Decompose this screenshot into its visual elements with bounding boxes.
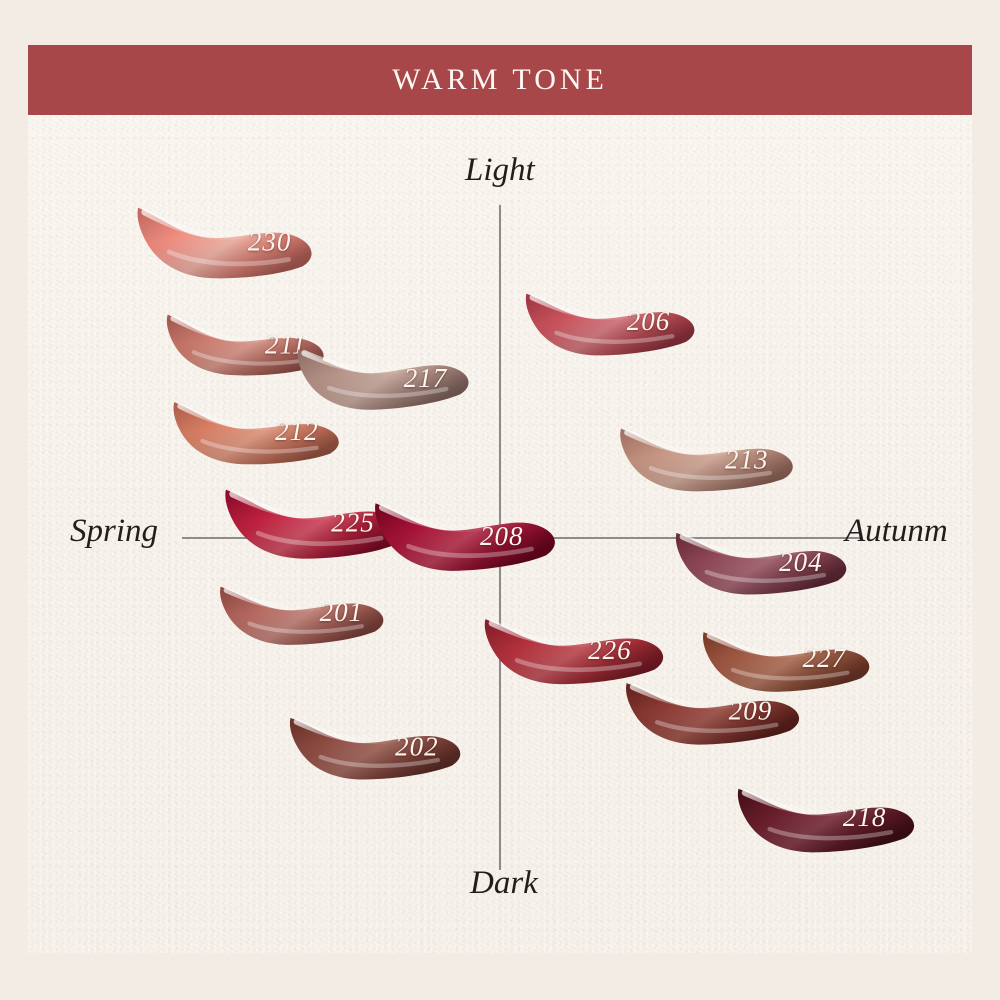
warm-tone-shade-chart: WARM TONE Light Dark Spring Autunm 23021… <box>0 0 1000 1000</box>
title-bar: WARM TONE <box>28 45 972 115</box>
axis-label-dark: Dark <box>470 865 538 902</box>
axis-label-spring: Spring <box>70 513 158 550</box>
axis-label-light: Light <box>465 152 535 189</box>
page-title: WARM TONE <box>392 63 608 97</box>
axis-label-autumn: Autunm <box>845 513 948 550</box>
